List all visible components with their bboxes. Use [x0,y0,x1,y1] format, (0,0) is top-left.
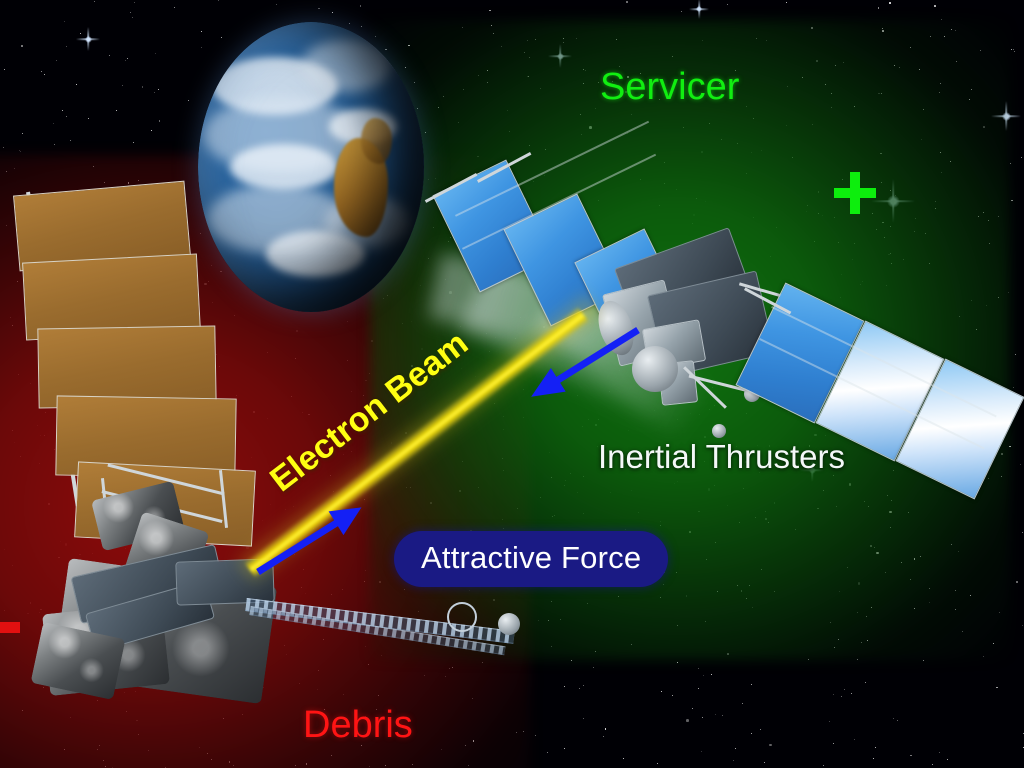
star [692,708,693,709]
star [349,23,350,24]
star [701,751,702,752]
star [1022,625,1023,626]
star [733,760,734,761]
star [134,2,135,3]
star [760,729,761,730]
attractive-force-badge: Attractive Force [394,531,668,587]
star [547,752,548,753]
star [489,10,491,12]
star [593,667,594,668]
star [151,130,152,131]
star [218,0,219,1]
star [127,58,128,59]
star [1013,49,1014,50]
star [844,689,845,690]
star [41,71,42,72]
star [1015,354,1016,355]
star [897,720,898,721]
star [276,4,277,5]
star [1020,464,1021,465]
star [122,85,123,86]
star [583,718,584,719]
star [70,140,71,141]
star [833,743,834,744]
minus-icon [0,622,20,633]
star [201,47,202,48]
star [698,668,699,669]
star [786,2,787,3]
boom-tip [712,424,726,438]
star [88,118,89,119]
star [841,696,842,697]
star [893,718,894,719]
star [221,37,222,38]
bright-star [696,6,702,12]
star [910,755,912,757]
star [681,11,682,12]
star [132,17,133,18]
earth-planet [198,22,424,312]
star [94,1,95,2]
star [854,739,855,740]
star [155,53,156,54]
star [1016,581,1018,583]
star [53,123,54,124]
star [535,735,536,736]
star [4,69,5,70]
star [66,46,67,47]
star [3,147,4,148]
star [764,762,765,763]
star [360,5,362,7]
star [703,675,704,676]
star [80,33,81,34]
star [1013,387,1014,388]
star [751,733,752,734]
star [875,747,876,748]
star [735,748,736,749]
star [878,7,880,9]
star [833,694,834,695]
star [711,674,712,675]
star [116,110,117,111]
plus-icon [834,172,876,214]
star [702,717,703,718]
star [829,721,830,722]
bright-star [85,36,92,43]
star [571,660,572,661]
star [130,12,131,13]
star [174,7,175,8]
star [657,763,658,764]
star [947,759,948,760]
star [823,765,824,766]
star [677,662,678,663]
inertial-thrusters-label: Inertial Thrusters [598,438,845,476]
star [133,142,134,143]
star [661,691,662,692]
star [923,660,924,661]
servicer-label: Servicer [600,66,739,109]
star [603,736,604,737]
star [564,748,565,749]
star [19,150,20,151]
plus-vertical-bar [850,172,860,214]
star [109,55,110,56]
star [125,60,126,61]
star [698,688,699,689]
star [201,31,202,32]
star [44,74,45,75]
star [154,92,155,93]
star [996,687,998,689]
star [564,686,565,687]
star [188,100,190,102]
star [1014,51,1015,52]
star [583,685,584,686]
space-scene: Servicer Inertial Thrusters Debris Elect… [0,0,1024,768]
star [727,4,728,5]
star [21,45,23,47]
star [20,151,21,152]
star [1022,532,1023,533]
star [672,695,673,696]
star [158,89,159,90]
star [64,21,65,22]
star [318,8,320,10]
star [56,60,57,61]
star [932,764,933,765]
star [1021,157,1022,158]
star [1011,49,1012,50]
star [579,688,580,689]
star [934,5,936,7]
star [361,26,362,27]
star [76,84,77,85]
debris-label: Debris [303,704,413,747]
star [742,703,743,704]
star [889,2,891,4]
star [623,758,624,759]
star [769,744,772,747]
star [22,133,23,134]
star [722,715,723,716]
star [851,693,852,694]
star [605,728,607,730]
star [159,120,161,122]
star [686,719,689,722]
thruster-nozzle [632,346,678,392]
antenna-ring [447,602,477,632]
star [865,682,866,683]
star [715,714,716,715]
star [62,110,63,111]
earth-atmosphere [198,22,424,312]
star [939,752,940,753]
star [54,144,55,145]
star [332,12,333,13]
star [626,1,628,3]
star [1011,200,1013,202]
antenna-tip [498,613,520,635]
star [751,684,752,685]
star [142,86,144,88]
star [873,758,874,759]
star [66,116,67,117]
